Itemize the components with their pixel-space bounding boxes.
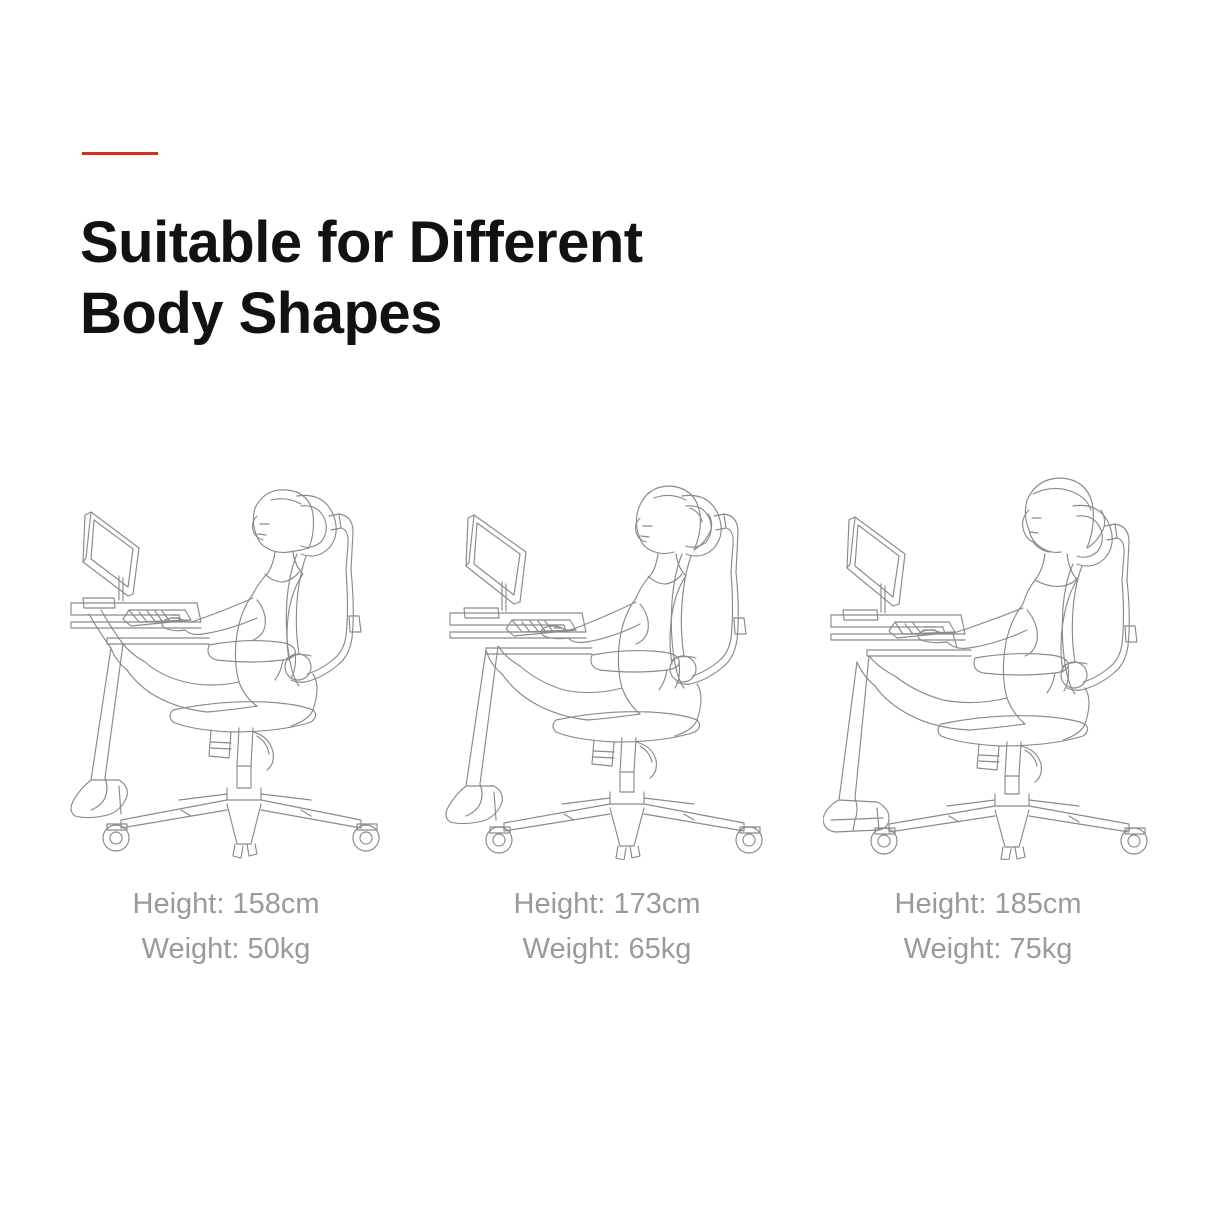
chair-gas-cylinder xyxy=(977,742,1041,794)
figure-row: Height: 158cm Weight: 50kg xyxy=(0,470,1214,1010)
figure-card-medium: Height: 173cm Weight: 65kg xyxy=(417,470,797,972)
caption-medium: Height: 173cm Weight: 65kg xyxy=(514,882,701,972)
lumbar-support-roller xyxy=(1061,662,1087,688)
desk xyxy=(450,613,592,654)
chair-seat xyxy=(170,674,317,732)
accent-rule xyxy=(82,152,158,155)
chair-seat xyxy=(938,688,1089,746)
monitor-icon xyxy=(843,517,905,620)
chair-armrest xyxy=(208,641,296,680)
chair-gas-cylinder xyxy=(592,738,656,792)
height-label: Height: 158cm xyxy=(133,882,320,927)
chair-five-star-base xyxy=(504,792,744,846)
chair-armrest xyxy=(974,654,1069,693)
page-root: Suitable for Different Body Shapes xyxy=(0,0,1214,1214)
figure-card-small: Height: 158cm Weight: 50kg xyxy=(36,470,416,972)
keyboard-icon xyxy=(123,610,191,626)
lumbar-support-roller xyxy=(670,656,696,682)
figure-card-large: Height: 185cm Weight: 75kg xyxy=(798,470,1178,972)
chair-armrest xyxy=(591,651,680,690)
page-title: Suitable for Different Body Shapes xyxy=(80,208,980,350)
desk xyxy=(831,615,971,656)
chair-casters xyxy=(871,828,1147,860)
illustration-medium xyxy=(442,470,772,860)
chair-five-star-base xyxy=(889,794,1129,847)
person-figure xyxy=(446,486,712,824)
chair-five-star-base xyxy=(121,788,361,844)
height-label: Height: 185cm xyxy=(895,882,1082,927)
chair-headrest xyxy=(682,495,738,572)
weight-label: Weight: 75kg xyxy=(895,927,1082,972)
chair-casters xyxy=(486,827,762,860)
caption-small: Height: 158cm Weight: 50kg xyxy=(133,882,320,972)
chair-backrest xyxy=(1062,564,1137,694)
keyboard-icon xyxy=(889,622,955,638)
desk xyxy=(71,603,209,644)
monitor-icon xyxy=(83,512,139,608)
chair-casters xyxy=(103,824,379,858)
illustration-large xyxy=(823,470,1153,860)
caption-large: Height: 185cm Weight: 75kg xyxy=(895,882,1082,972)
illustration-small xyxy=(61,470,391,860)
monitor-icon xyxy=(464,515,526,618)
weight-label: Weight: 65kg xyxy=(514,927,701,972)
weight-label: Weight: 50kg xyxy=(133,927,320,972)
person-figure xyxy=(71,490,314,818)
chair-gas-cylinder xyxy=(209,728,273,788)
chair-seat xyxy=(553,684,701,742)
height-label: Height: 173cm xyxy=(514,882,701,927)
